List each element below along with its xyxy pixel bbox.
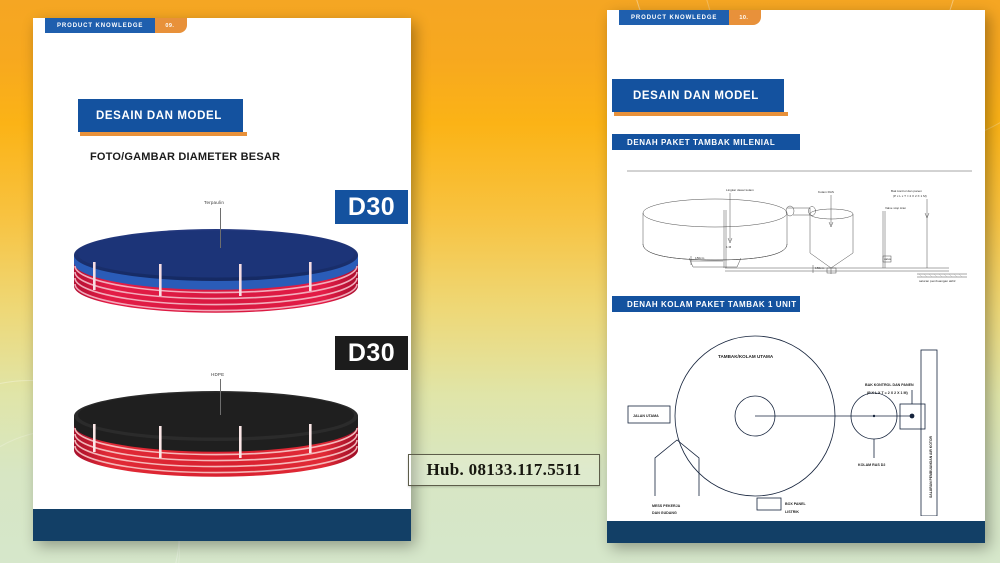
svg-text:Valve stop kran: Valve stop kran: [885, 206, 906, 210]
tank-badge-d30-hdpe: D30: [335, 336, 408, 370]
svg-text:(P x L x T = 2 X 2 X 1 M): (P x L x T = 2 X 2 X 1 M): [893, 194, 927, 198]
svg-text:Lingkar dasar kolam: Lingkar dasar kolam: [726, 188, 754, 192]
diagram-side-elevation: Lingkar dasar kolam 1 M 150cm Kolam RAS: [627, 168, 972, 286]
svg-text:150cm: 150cm: [695, 256, 705, 260]
svg-text:Bak kontrol dan panen: Bak kontrol dan panen: [891, 189, 922, 193]
svg-text:Kolam RAS: Kolam RAS: [818, 190, 834, 194]
tank-callout-hdpe: HDPE: [211, 372, 224, 377]
tank-leader-line: [220, 379, 221, 415]
svg-text:(P X L X T = 2 X 2 X 1 M): (P X L X T = 2 X 2 X 1 M): [867, 391, 909, 395]
svg-text:TAMBAK/KOLAM UTAMA: TAMBAK/KOLAM UTAMA: [718, 354, 774, 359]
svg-text:1 M: 1 M: [726, 245, 732, 249]
tank-illustration-hdpe: HDPE: [51, 366, 381, 478]
tank-svg-tarpaulin: [51, 200, 381, 315]
tab-label: PRODUCT KNOWLEDGE: [619, 10, 729, 25]
tank-leader-line: [220, 208, 221, 248]
svg-text:SALURAN PEMBUANGAN AIR KOTOR: SALURAN PEMBUANGAN AIR KOTOR: [929, 435, 933, 498]
svg-text:LISTRIK: LISTRIK: [785, 510, 799, 514]
left-subheading: FOTO/GAMBAR DIAMETER BESAR: [90, 151, 280, 163]
slide-canvas: PRODUCT KNOWLEDGE 09. DESAIN DAN MODEL F…: [0, 0, 1000, 563]
section-bar-denah-kolam-paket-tambak-1-unit: DENAH KOLAM PAKET TAMBAK 1 UNIT: [612, 296, 800, 312]
page-title: DESAIN DAN MODEL: [78, 99, 243, 132]
tank-callout-tarpaulin: Terpaulin: [204, 200, 224, 205]
svg-text:JALAN UTAMA: JALAN UTAMA: [633, 414, 659, 418]
svg-text:saluran pembuangan akhir: saluran pembuangan akhir: [919, 279, 956, 283]
right-page-footer: [607, 521, 985, 543]
svg-text:150cm: 150cm: [815, 266, 825, 270]
tank-illustration-tarpaulin: Terpaulin: [51, 200, 381, 315]
svg-text:valve: valve: [884, 257, 892, 261]
page-right-tab: PRODUCT KNOWLEDGE 10.: [619, 10, 761, 25]
svg-text:MESS PEKERJA: MESS PEKERJA: [652, 504, 681, 508]
tab-label: PRODUCT KNOWLEDGE: [45, 18, 155, 33]
section-bar-denah-paket-tambak-milenial: DENAH PAKET TAMBAK MILENIAL: [612, 134, 800, 150]
tab-page-number: 09.: [155, 18, 187, 33]
tank-svg-hdpe: [51, 366, 381, 478]
svg-text:DAN GUDANG: DAN GUDANG: [652, 511, 677, 515]
left-headline-block: DESAIN DAN MODEL: [78, 99, 243, 132]
right-headline-block: DESAIN DAN MODEL: [612, 79, 784, 112]
svg-text:BAK KONTROL DAN PANEN: BAK KONTROL DAN PANEN: [865, 383, 914, 387]
svg-text:KOLAM RAS D2: KOLAM RAS D2: [858, 463, 885, 467]
page-left-tab: PRODUCT KNOWLEDGE 09.: [45, 18, 187, 33]
tab-page-number: 10.: [729, 10, 761, 25]
page-title: DESAIN DAN MODEL: [612, 79, 784, 112]
svg-text:BOX PANEL: BOX PANEL: [785, 502, 807, 506]
contact-phone-overlay: Hub. 08133.117.5511: [408, 454, 600, 486]
left-page-footer: [33, 509, 411, 541]
diagram-plan-view: TAMBAK/KOLAM UTAMA JALAN UTAMA KOLAM RAS…: [615, 318, 977, 516]
page-left: PRODUCT KNOWLEDGE 09. DESAIN DAN MODEL F…: [33, 18, 411, 541]
